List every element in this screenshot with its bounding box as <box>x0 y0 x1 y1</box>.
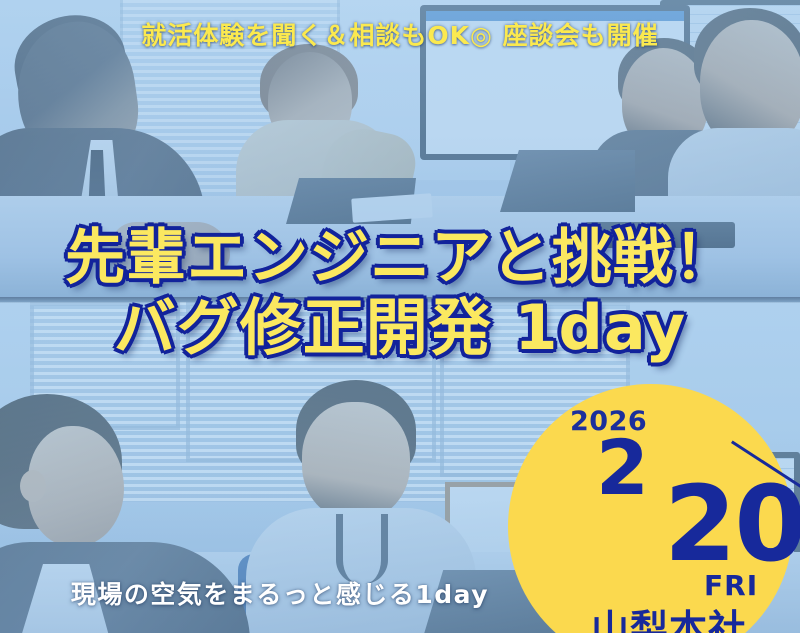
main-title-line-1: 先輩エンジニアと挑戦！ <box>0 228 800 290</box>
person-staff-face <box>302 402 410 520</box>
person-student-ear <box>20 470 46 502</box>
top-banner: 就活体験を聞く＆相談もOK◎ 座談会も開催 <box>0 16 800 52</box>
bottom-caption: 現場の空気をまるっと感じる1day <box>0 575 560 611</box>
laptop-right <box>500 150 635 212</box>
bottom-caption-text: 現場の空気をまるっと感じる1day <box>71 580 489 609</box>
main-title-line-2: バグ修正開発 1day <box>0 296 800 360</box>
lanyard <box>336 514 388 584</box>
event-poster: 就活体験を聞く＆相談もOK◎ 座談会も開催 先輩エンジニアと挑戦！ バグ修正開発… <box>0 0 800 633</box>
top-banner-text: 就活体験を聞く＆相談もOK◎ 座談会も開催 <box>141 16 658 52</box>
date-day: 20 <box>664 472 800 576</box>
date-location: 山梨本社 <box>591 598 747 633</box>
main-title: 先輩エンジニアと挑戦！ バグ修正開発 1day <box>0 228 800 360</box>
